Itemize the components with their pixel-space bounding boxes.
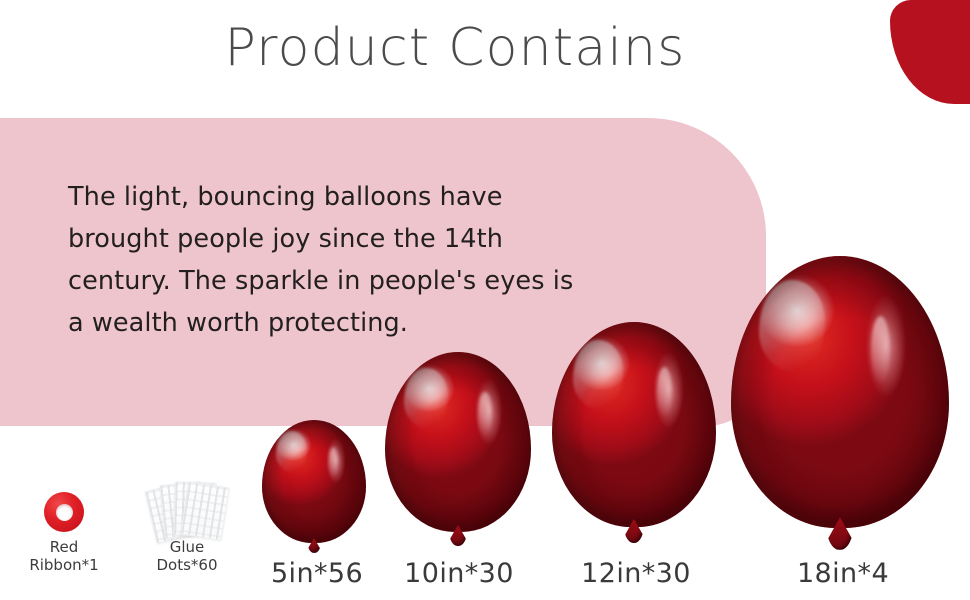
description-line-3: century. The sparkle in people's eyes is: [68, 260, 628, 302]
description-line-1: The light, bouncing balloons have: [68, 176, 628, 218]
accessory-label-line-1: Red: [50, 538, 79, 556]
balloon-edge-shading: [385, 352, 531, 532]
balloon-18in: [731, 256, 949, 528]
balloon-label-18in: 18in*4: [797, 558, 889, 589]
balloon-label-12in: 12in*30: [581, 558, 691, 589]
balloon-edge-shading: [731, 256, 949, 528]
accessory-label-line-2: Dots*60: [156, 556, 217, 574]
accessory-glue-dots: Glue Dots*60: [144, 478, 230, 582]
infographic-canvas: Product Contains The light, bouncing bal…: [0, 0, 970, 600]
balloon-label-10in: 10in*30: [404, 558, 514, 589]
accessory-label-line-2: Ribbon*1: [29, 556, 98, 574]
accessory-label-line-1: Glue: [170, 538, 205, 556]
balloon-5in: [262, 420, 366, 543]
balloon-label-5in: 5in*56: [271, 558, 363, 589]
accessory-label-glue-dots: Glue Dots*60: [156, 538, 217, 574]
glue-sheet: [180, 481, 230, 541]
description-line-2: brought people joy since the 14th: [68, 218, 628, 260]
glue-dots-sheets-icon: [148, 478, 226, 540]
description-text: The light, bouncing balloons have brough…: [68, 176, 628, 344]
red-ribbon-ring-icon: [44, 492, 84, 532]
balloon-12in: [552, 322, 716, 527]
description-line-4: a wealth worth protecting.: [68, 302, 628, 344]
balloon-edge-shading: [552, 322, 716, 527]
balloon-10in: [385, 352, 531, 532]
page-title: Product Contains: [0, 18, 910, 78]
balloon-edge-shading: [262, 420, 366, 543]
accessory-label-red-ribbon: Red Ribbon*1: [29, 538, 98, 574]
accessory-red-ribbon: Red Ribbon*1: [25, 492, 103, 582]
